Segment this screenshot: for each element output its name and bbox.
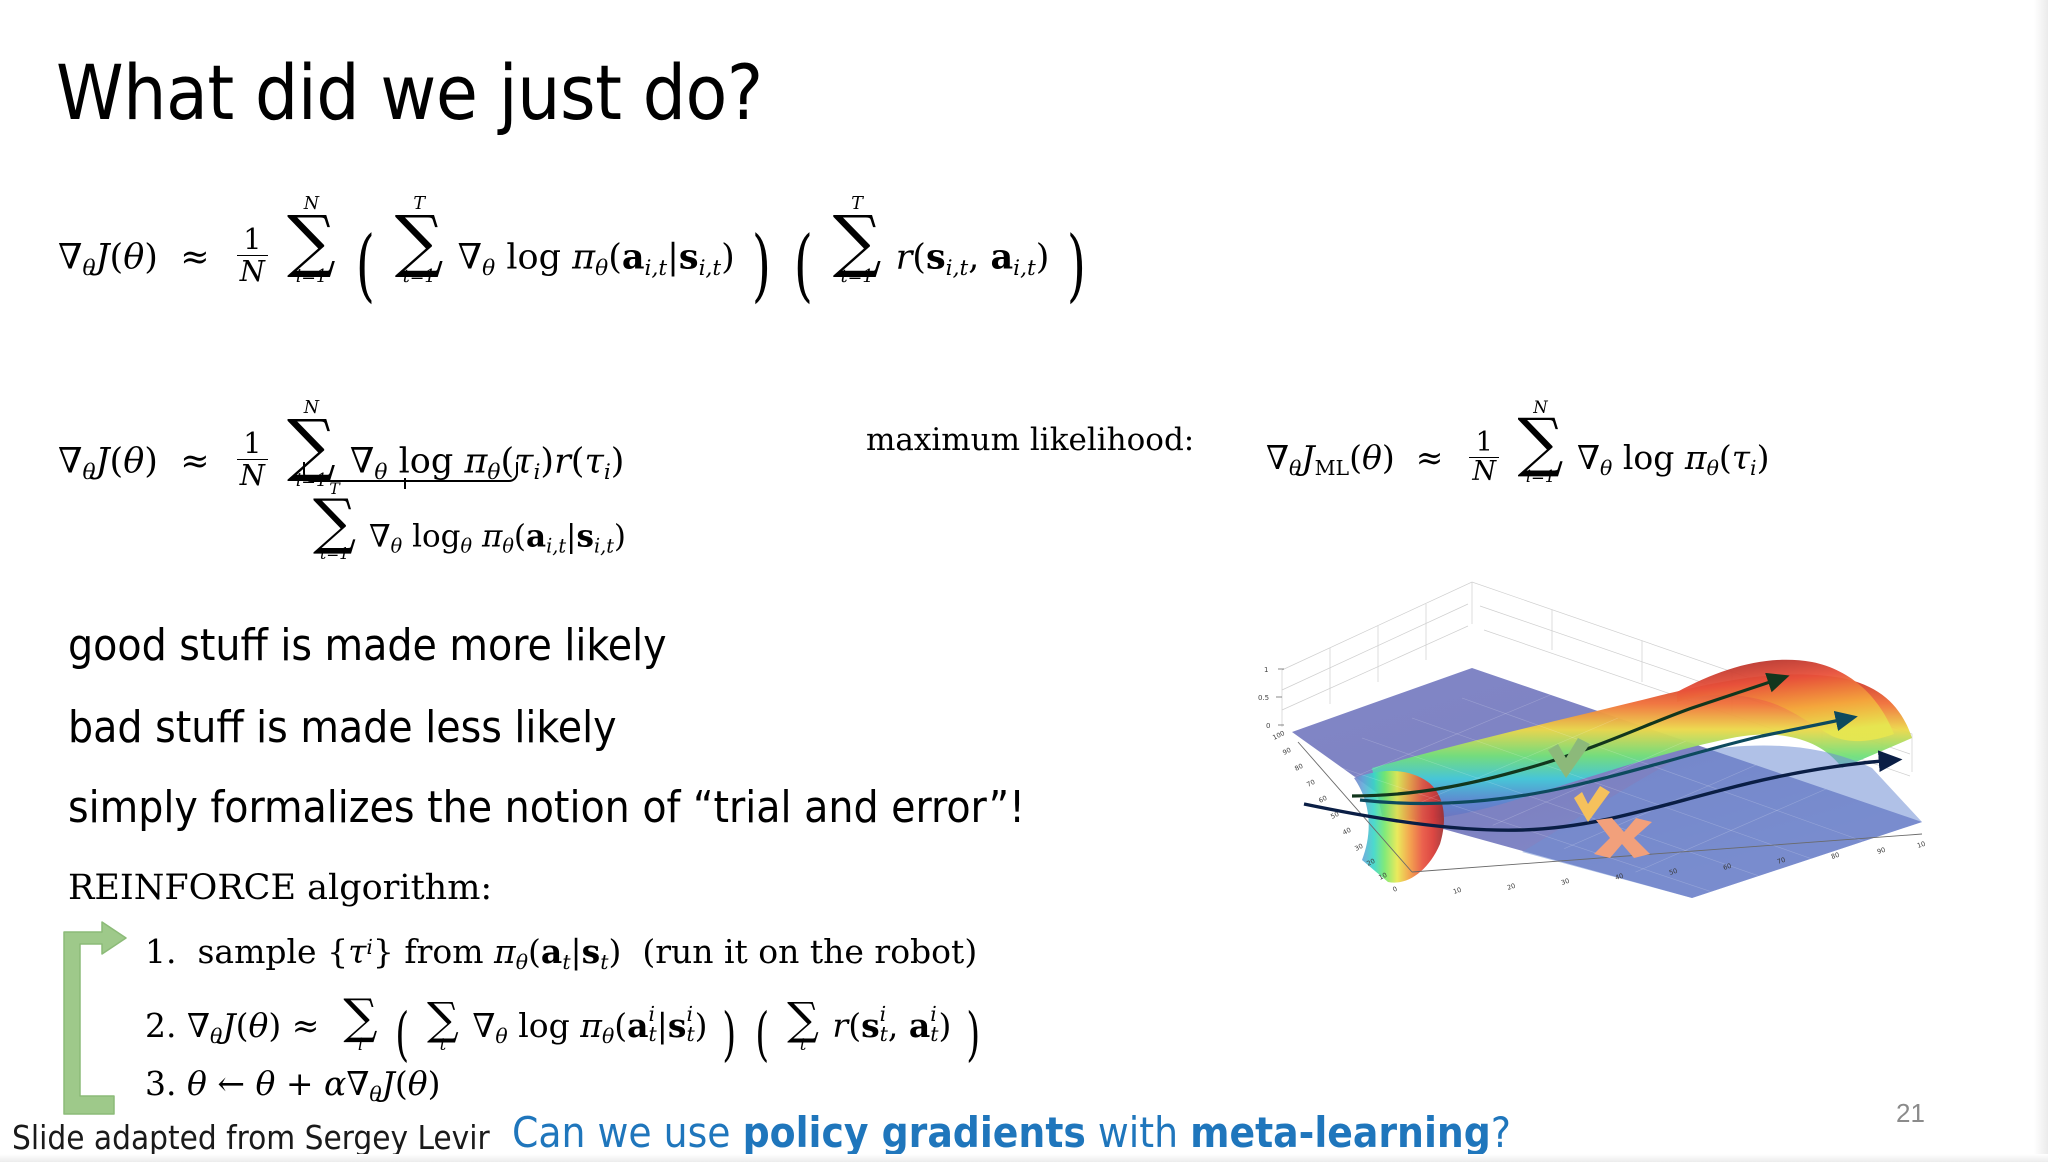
reinforce-step-1: 1. sample {τi} from πθ(at|st) (run it on… — [145, 932, 977, 974]
reward-surface-3d-plot: 1 0.5 0 — [1222, 572, 1940, 902]
svg-text:0.5: 0.5 — [1258, 694, 1269, 702]
svg-text:30: 30 — [1560, 877, 1570, 887]
svg-text:0: 0 — [1391, 885, 1398, 894]
right-edge-shadow — [2034, 0, 2048, 1162]
svg-text:10: 10 — [1916, 840, 1926, 850]
slide-canvas: What did we just do? ∇θJ(θ) ≈ 1N N∑i=1 (… — [0, 0, 2048, 1162]
slide-credit: Slide adapted from Sergey Levir — [12, 1118, 490, 1157]
reinforce-heading: REINFORCE algorithm: — [68, 868, 492, 908]
svg-text:1: 1 — [1264, 666, 1268, 674]
page-title: What did we just do? — [56, 48, 763, 137]
svg-text:70: 70 — [1305, 778, 1316, 789]
bullet-trial-and-error: simply formalizes the notion of “trial a… — [68, 782, 1025, 833]
maximum-likelihood-label: maximum likelihood: — [866, 422, 1194, 458]
svg-text:100: 100 — [1271, 729, 1286, 742]
bullet-good-stuff: good stuff is made more likely — [68, 620, 667, 671]
question-part2: with — [1086, 1108, 1190, 1157]
bullet-bad-stuff: bad stuff is made less likely — [68, 702, 617, 753]
svg-text:90: 90 — [1876, 846, 1886, 856]
underbrace-bracket — [303, 462, 518, 482]
question-part3: ? — [1491, 1108, 1511, 1157]
svg-text:30: 30 — [1353, 842, 1364, 853]
svg-text:10: 10 — [1452, 886, 1462, 896]
page-number: 21 — [1896, 1098, 1925, 1129]
equation-maximum-likelihood: ∇θJML(θ) ≈ 1N N∑i=1 ∇θ log πθ(τi) — [1266, 400, 1769, 487]
reinforce-step-2: 2. ∇θJ(θ) ≈ ∑i ( ∑t ∇θ log πθ(ait|sit) )… — [145, 998, 984, 1054]
question-part1: Can we use — [512, 1108, 743, 1157]
equation-policy-gradient-full: ∇θJ(θ) ≈ 1N N∑i=1 ( T∑t=1 ∇θ log πθ(ai,t… — [58, 196, 1091, 287]
svg-text:90: 90 — [1281, 746, 1292, 757]
svg-text:80: 80 — [1293, 762, 1304, 773]
svg-text:40: 40 — [1341, 826, 1352, 837]
closing-question: Can we use policy gradients with meta-le… — [512, 1108, 1511, 1157]
loop-arrow-icon — [58, 918, 130, 1118]
svg-text:80: 80 — [1830, 851, 1840, 861]
question-bold1: policy gradients — [743, 1108, 1086, 1157]
question-bold2: meta-learning — [1190, 1108, 1491, 1157]
svg-text:20: 20 — [1506, 882, 1516, 892]
equation-underbrace-expansion: T∑t=1 ∇θ logθ πθ(ai,t|si,t) — [310, 482, 626, 563]
svg-text:0: 0 — [1266, 722, 1270, 730]
svg-text:60: 60 — [1317, 794, 1328, 805]
reinforce-step-3: 3. θ ← θ + α∇θJ(θ) — [145, 1064, 441, 1106]
bottom-edge-shadow — [0, 1154, 2048, 1162]
